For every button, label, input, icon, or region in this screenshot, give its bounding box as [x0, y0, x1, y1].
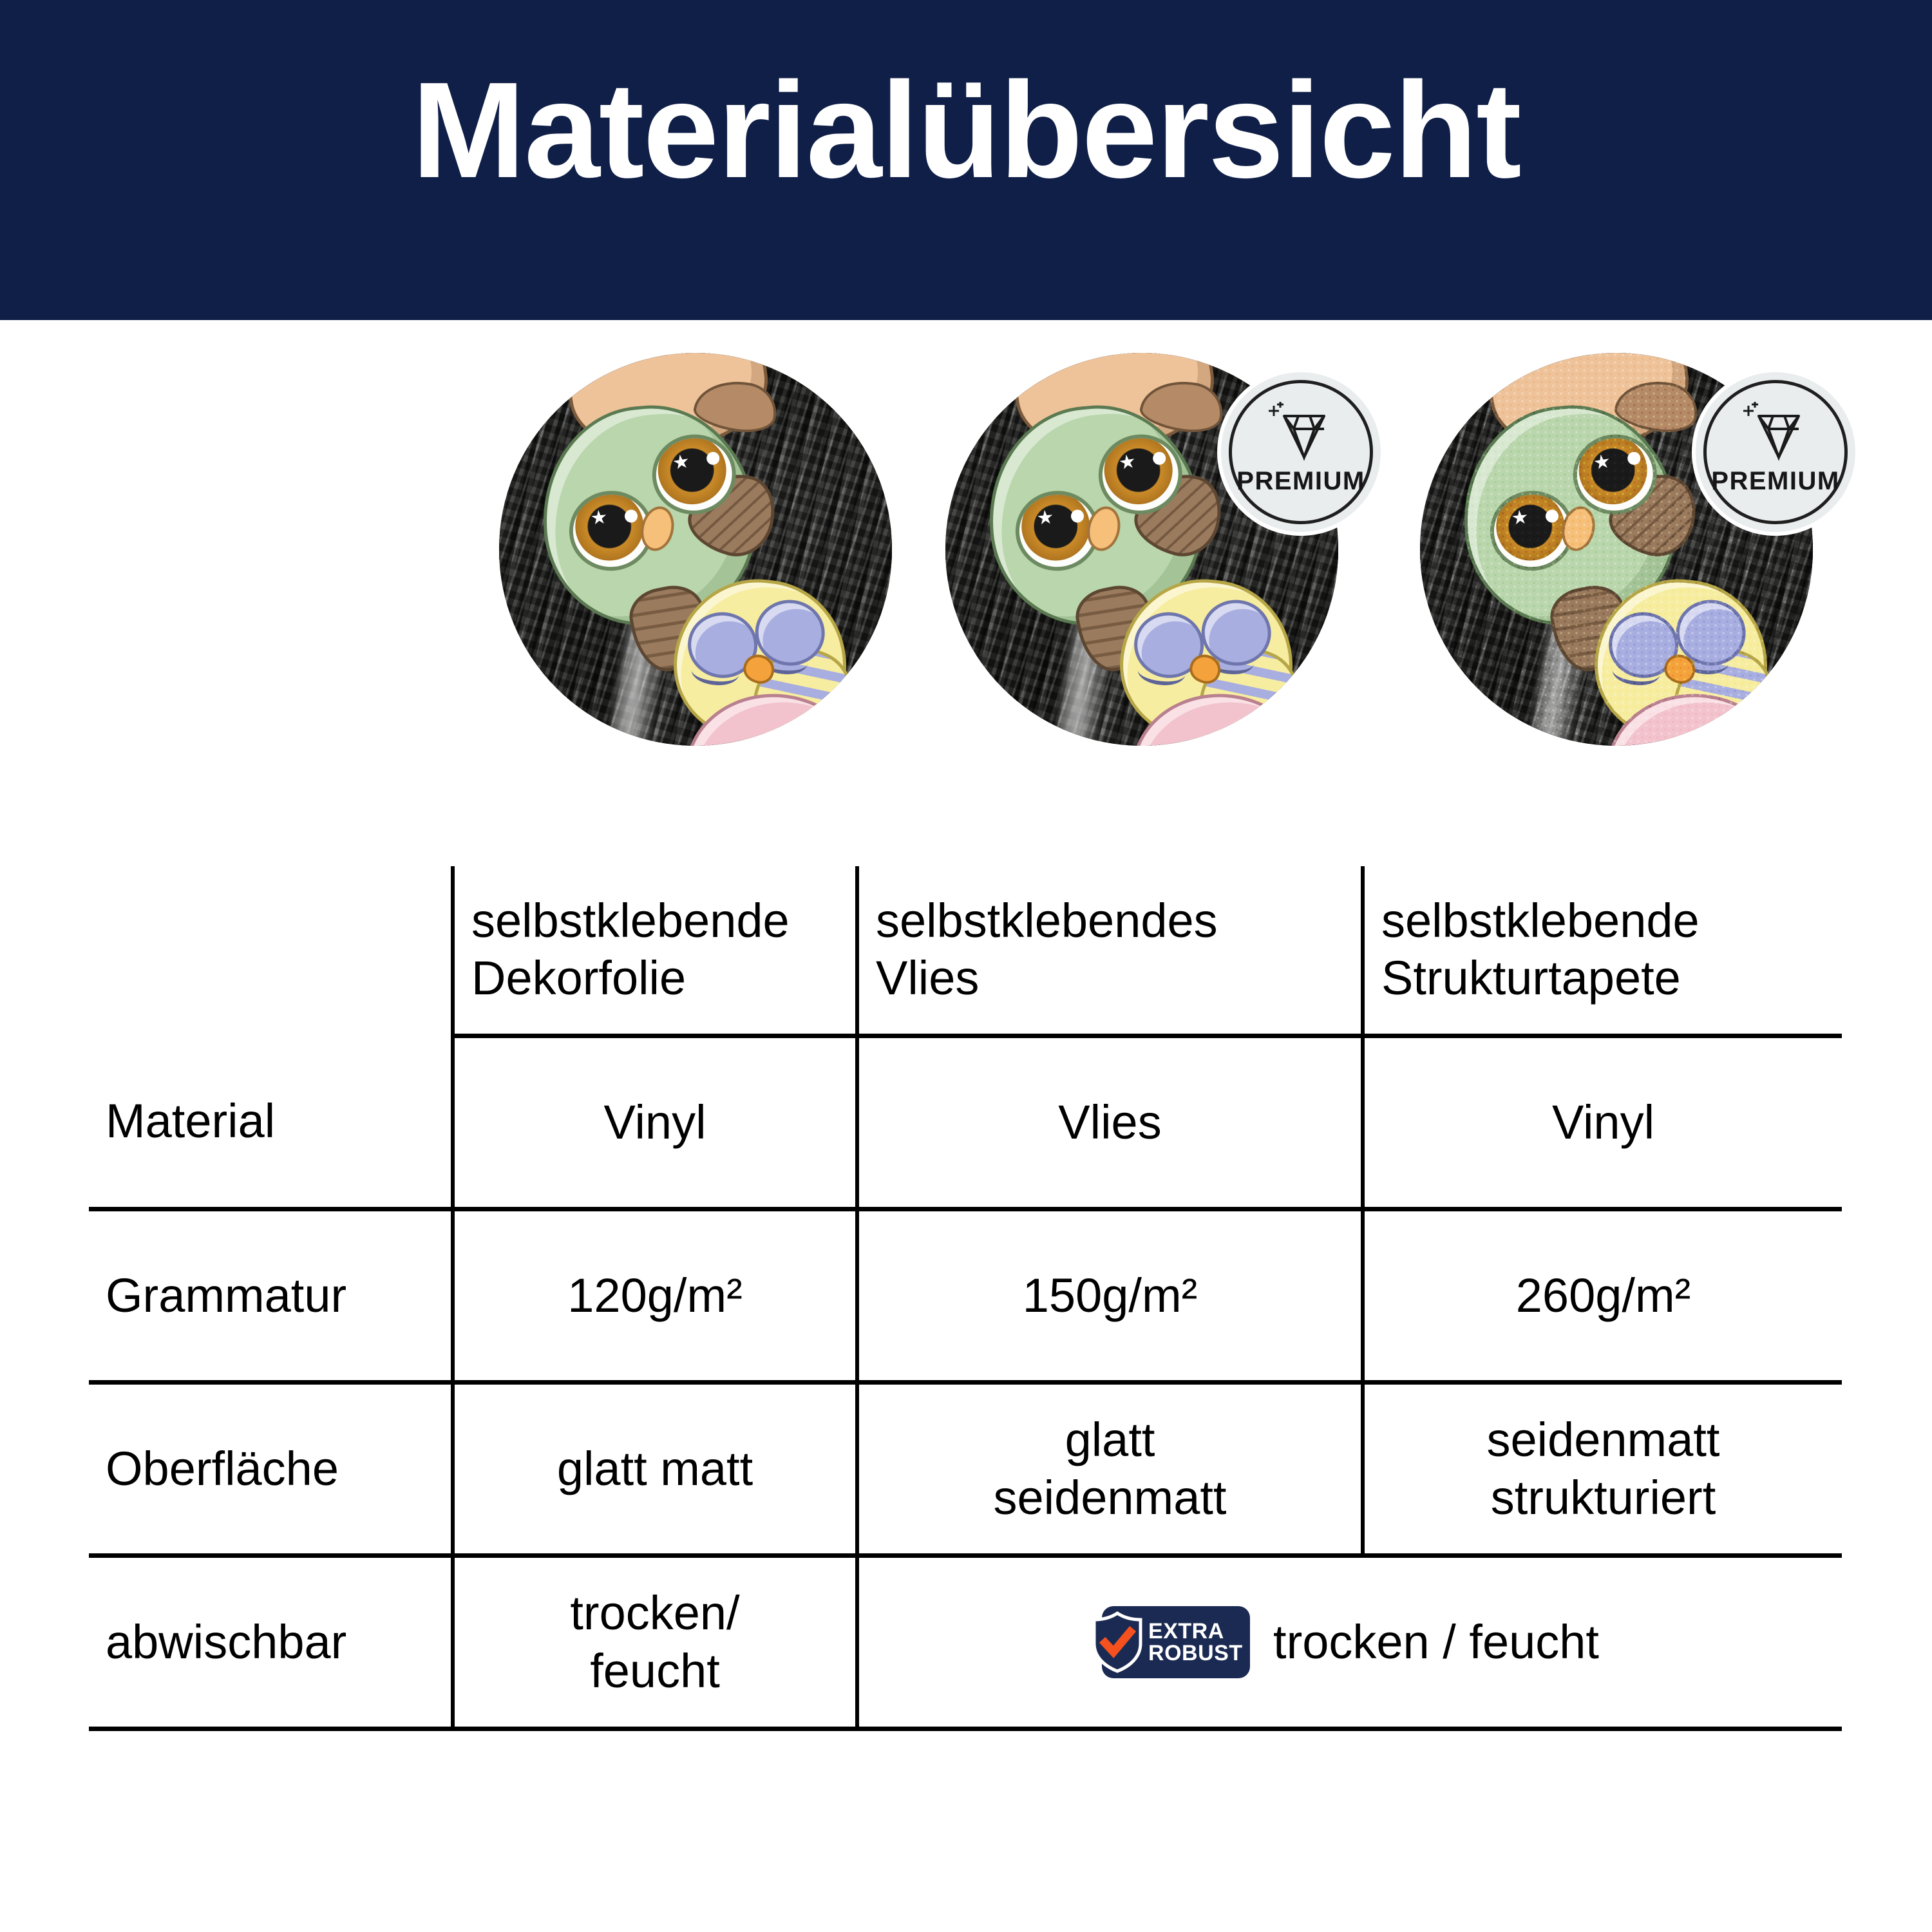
- column-header-dekorfolie: selbstklebende Dekorfolie: [453, 866, 857, 1036]
- table-row-material: Material Vinyl Vlies Vinyl: [89, 1036, 1842, 1209]
- cell-oberflaeche-vlies: glattseidenmatt: [857, 1383, 1363, 1556]
- premium-badge: PREMIUM: [1221, 372, 1381, 532]
- column-header-vlies: selbstklebendes Vlies: [857, 866, 1363, 1036]
- cell-material-vlies: Vlies: [857, 1036, 1363, 1209]
- row-label-grammatur: Grammatur: [89, 1209, 453, 1383]
- material-spec-table: selbstklebende Dekorfolie selbstklebende…: [89, 866, 1842, 1731]
- material-overview-page: Materialübersicht: [0, 0, 1932, 1932]
- cell-grammatur-dekorfolie: 120g/m²: [453, 1209, 857, 1383]
- table-header-row: selbstklebende Dekorfolie selbstklebende…: [89, 866, 1842, 1036]
- thumbnail-vlies[interactable]: PREMIUM: [945, 353, 1338, 746]
- premium-badge-label: PREMIUM: [1221, 467, 1381, 496]
- cell-grammatur-vlies: 150g/m²: [857, 1209, 1363, 1383]
- diamond-icon: [1739, 402, 1812, 467]
- page-header: Materialübersicht: [0, 0, 1932, 320]
- diamond-icon: [1265, 402, 1337, 467]
- column-header-strukturtapete: selbstklebende Strukturtapete: [1363, 866, 1842, 1036]
- cell-oberflaeche-strukturtapete: seidenmattstrukturiert: [1363, 1383, 1842, 1556]
- cell-grammatur-strukturtapete: 260g/m²: [1363, 1209, 1842, 1383]
- abwischbar-value-text: trocken / feucht: [1273, 1613, 1599, 1671]
- shield-check-icon: [1090, 1611, 1144, 1673]
- thumbnail-strukturtapete[interactable]: PREMIUM: [1420, 353, 1813, 746]
- premium-badge: PREMIUM: [1696, 372, 1855, 532]
- row-label-oberflaeche: Oberfläche: [89, 1383, 453, 1556]
- table-row-grammatur: Grammatur 120g/m² 150g/m² 260g/m²: [89, 1209, 1842, 1383]
- extra-robust-text: EXTRA ROBUST: [1148, 1620, 1243, 1664]
- owl-pink-eye: [752, 731, 838, 746]
- thumbnail-dekorfolie[interactable]: [499, 353, 892, 746]
- premium-badge-label: PREMIUM: [1696, 467, 1855, 496]
- extra-robust-badge: EXTRA ROBUST: [1102, 1606, 1250, 1678]
- page-title: Materialübersicht: [0, 62, 1932, 198]
- owl-yellow-lash-left: [690, 657, 741, 688]
- cell-material-strukturtapete: Vinyl: [1363, 1036, 1842, 1209]
- table-corner-cell: [89, 866, 453, 1036]
- table-row-abwischbar: abwischbar trocken/feucht: [89, 1556, 1842, 1729]
- product-image-circle: [499, 353, 892, 746]
- cell-material-dekorfolie: Vinyl: [453, 1036, 857, 1209]
- row-label-material: Material: [89, 1036, 453, 1209]
- row-label-abwischbar: abwischbar: [89, 1556, 453, 1729]
- cell-abwischbar-vlies-strukturtapete: EXTRA ROBUST trocken / feucht: [857, 1556, 1842, 1729]
- cell-oberflaeche-dekorfolie: glatt matt: [453, 1383, 857, 1556]
- cell-abwischbar-dekorfolie: trocken/feucht: [453, 1556, 857, 1729]
- product-thumbnail-row: PREMIUM: [0, 348, 1932, 760]
- table-row-oberflaeche: Oberfläche glatt matt glattseidenmatt se…: [89, 1383, 1842, 1556]
